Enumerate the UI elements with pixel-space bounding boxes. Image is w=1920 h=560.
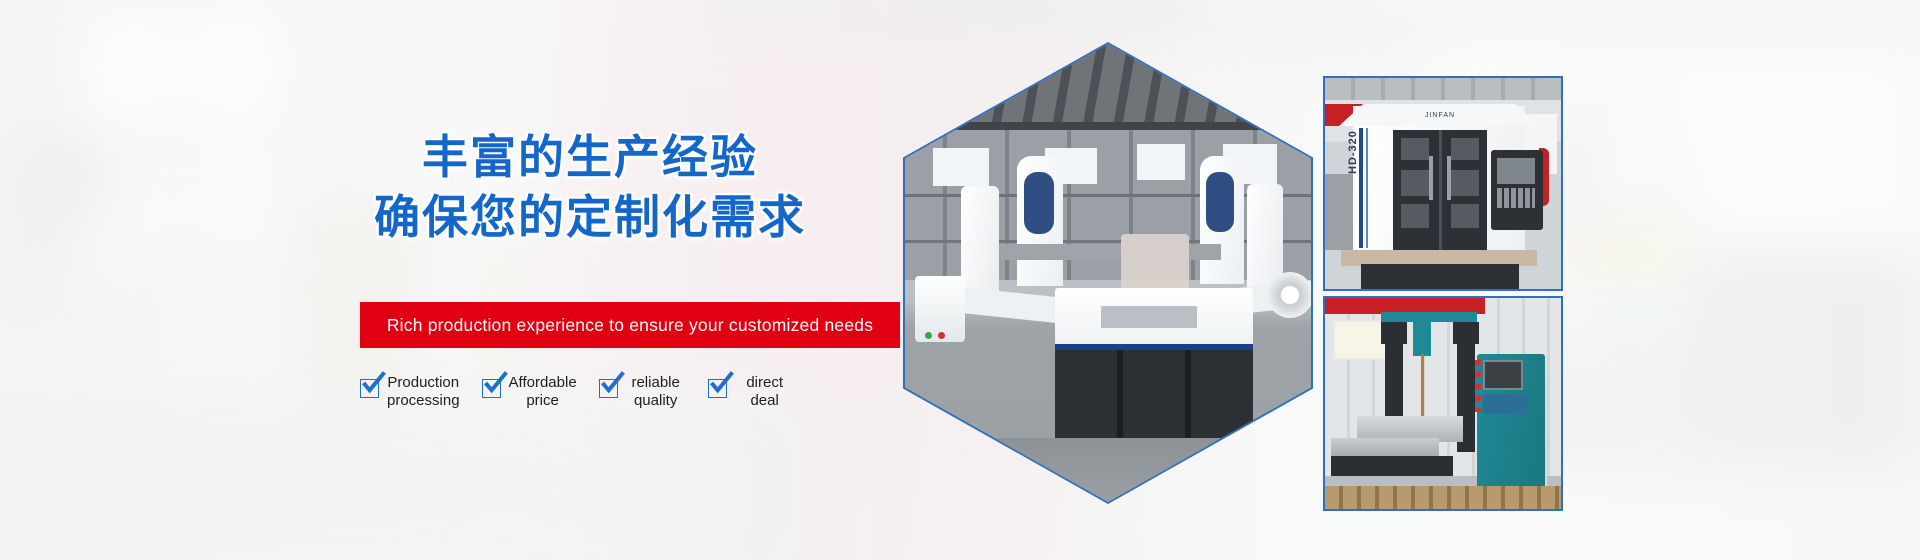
checkbox-checked-icon	[360, 379, 379, 398]
feature-label-line-2: processing	[387, 392, 460, 409]
headline-line-1: 丰富的生产经验	[422, 130, 758, 184]
feature-label-line-2: deal	[750, 392, 778, 409]
feature-item-direct-deal[interactable]: directdeal	[708, 374, 795, 411]
feature-label-line-2: price	[526, 392, 559, 409]
feature-item-affordable-price[interactable]: Affordableprice	[482, 374, 577, 411]
thumbnail-edm-machine[interactable]	[1323, 296, 1563, 511]
hero-banner: 丰富的生产经验 确保您的定制化需求 Rich production experi…	[0, 0, 1920, 560]
feature-label-line-1: Affordable	[509, 374, 577, 391]
feature-label: reliablequality	[626, 374, 686, 411]
feature-label-line-2: quality	[634, 392, 677, 409]
thumbnail-hd-320[interactable]: JINFAN HD-320	[1323, 76, 1563, 291]
feature-list: Productionprocessing Affordableprice rel…	[360, 374, 860, 411]
feature-label-line-1: reliable	[631, 374, 679, 391]
subtitle-bar: Rich production experience to ensure you…	[360, 302, 900, 348]
checkbox-checked-icon	[599, 379, 618, 398]
feature-item-reliable-quality[interactable]: reliablequality	[599, 374, 686, 411]
subtitle-bar-text: Rich production experience to ensure you…	[387, 315, 873, 336]
headline-line-2: 确保您的定制化需求	[360, 188, 820, 248]
machine-brand-label: JINFAN	[1417, 112, 1463, 120]
feature-label: Affordableprice	[509, 374, 577, 411]
feature-label: Productionprocessing	[387, 374, 460, 411]
checkbox-checked-icon	[482, 379, 501, 398]
banner-copy: 丰富的生产经验 确保您的定制化需求 Rich production experi…	[0, 0, 900, 560]
thumbnail-hd-320-image: JINFAN HD-320	[1325, 78, 1561, 289]
feature-item-production-processing[interactable]: Productionprocessing	[360, 374, 460, 411]
hexagon-photo-image	[905, 44, 1311, 502]
feature-label-line-1: direct	[746, 374, 783, 391]
hexagon-product-photo[interactable]	[903, 42, 1313, 504]
banner-headline: 丰富的生产经验 确保您的定制化需求	[360, 128, 820, 248]
thumbnail-edm-machine-image	[1325, 298, 1561, 509]
checkbox-checked-icon	[708, 379, 727, 398]
machine-model-label: HD-320	[1347, 104, 1361, 174]
feature-label-line-1: Production	[387, 374, 459, 391]
feature-label: directdeal	[735, 374, 795, 411]
